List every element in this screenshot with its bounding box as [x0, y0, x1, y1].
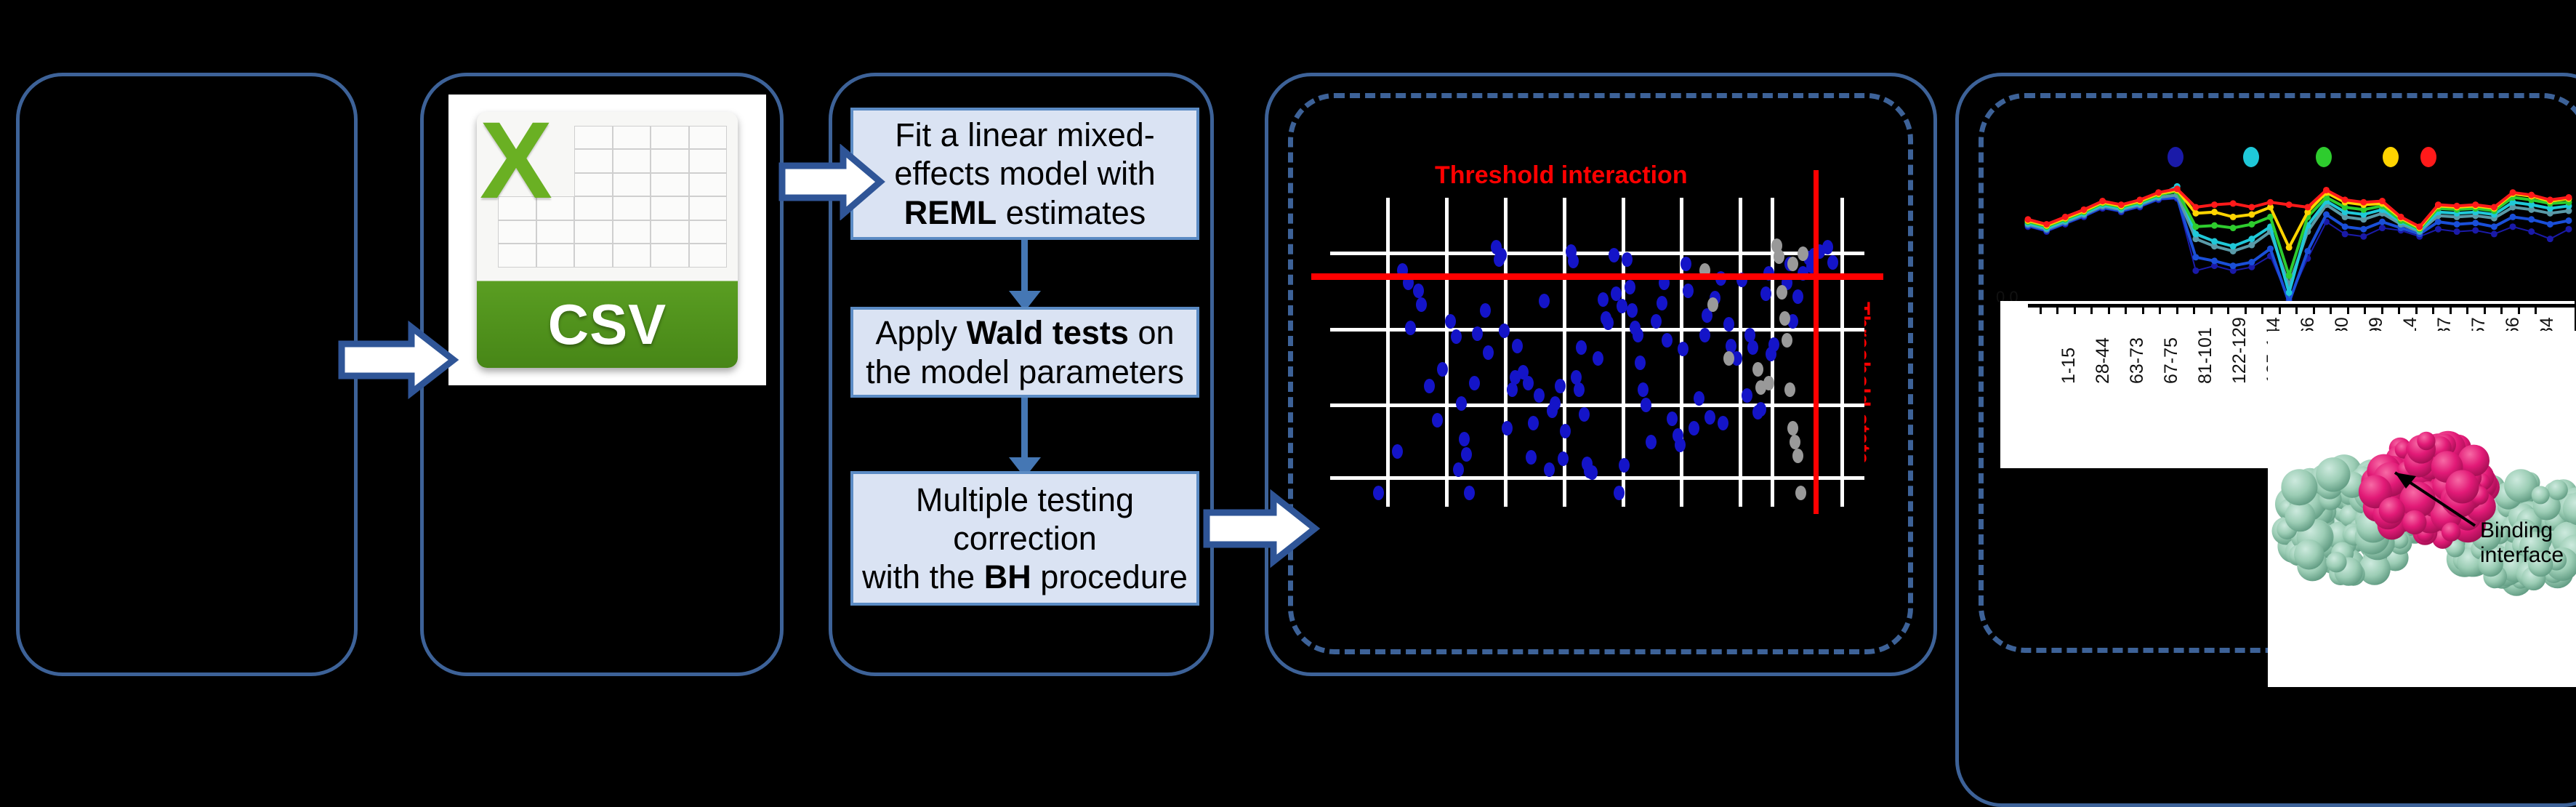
scatter-point — [1678, 342, 1689, 356]
scatter-point — [1617, 299, 1627, 313]
peptide-series-marker — [2099, 198, 2106, 204]
csv-icon-grid-cell — [689, 244, 728, 268]
scatter-gridline-horizontal — [1330, 476, 1864, 480]
peptide-series-marker — [2360, 233, 2367, 240]
csv-icon-grid-cell — [689, 149, 728, 173]
scatter-point — [1598, 292, 1609, 307]
scatter-point — [1614, 486, 1625, 500]
scatter-point — [1625, 280, 1635, 294]
peptide-series-marker — [2323, 187, 2330, 193]
scatter-point — [1774, 249, 1784, 264]
scatter-point — [1544, 462, 1555, 477]
scatter-point — [1456, 396, 1467, 411]
csv-icon-grid-row — [498, 220, 727, 244]
peptide-axis-tick — [2245, 304, 2247, 314]
csv-icon-x-glyph: X — [480, 112, 552, 214]
peptide-series-marker — [2379, 198, 2386, 204]
protein-chain-teal-right — [2532, 486, 2550, 504]
peptide-series-marker — [2192, 268, 2199, 274]
step-mt-pre: with the — [862, 558, 984, 595]
arrow-source-to-csv — [336, 320, 459, 400]
scatter-point — [1512, 339, 1523, 353]
scatter-point — [1373, 486, 1384, 500]
scatter-point — [1689, 421, 1699, 435]
step-mt-post: procedure — [1031, 558, 1188, 595]
peptide-series-marker — [2211, 201, 2218, 208]
peptide-series-marker — [2080, 206, 2087, 213]
peptide-legend-dot — [2243, 147, 2259, 167]
scatter-point — [1472, 326, 1483, 341]
csv-icon-grid-cell — [651, 149, 689, 173]
peptide-series-marker — [2062, 214, 2069, 220]
step-multiple-testing: Multiple testing correction with the BH … — [850, 471, 1199, 606]
peptide-series-marker — [2547, 196, 2553, 203]
peptide-axis-tick — [2193, 304, 2195, 314]
peptide-axis-tick — [2500, 304, 2503, 314]
scatter-point — [1787, 421, 1798, 435]
peptide-tick-label: 67-75 — [2161, 337, 2182, 384]
scatter-point — [1593, 351, 1603, 366]
scatter-point — [1622, 252, 1633, 267]
scatter-point — [1827, 255, 1838, 270]
scatter-point — [1779, 311, 1790, 326]
peptide-series-marker — [2248, 221, 2255, 228]
scatter-point — [1609, 248, 1619, 262]
peptide-series-marker — [2566, 226, 2572, 233]
scatter-point — [1579, 407, 1590, 422]
scatter-point — [1405, 321, 1416, 335]
scatter-point — [1718, 416, 1728, 430]
peptide-series-marker — [2286, 244, 2293, 251]
csv-icon-grid-cell — [536, 244, 575, 268]
peptide-series-marker — [2211, 238, 2218, 245]
peptide-series-marker — [2528, 228, 2535, 235]
peptide-axis-tick — [2432, 304, 2434, 314]
scatter-point — [1464, 486, 1475, 500]
peptide-tick-label: 28-44 — [2093, 337, 2114, 384]
peptide-series-marker — [2360, 199, 2367, 206]
peptide-series-marker — [2491, 204, 2497, 210]
peptide-series-marker — [2248, 212, 2255, 218]
scatter-point — [1507, 382, 1518, 397]
peptide-series-marker — [2174, 185, 2181, 192]
peptide-axis-tick — [2040, 304, 2042, 314]
peptide-series-marker — [2230, 262, 2237, 269]
protein-chain-teal-left — [2316, 457, 2350, 491]
scatter-gridline-horizontal — [1330, 403, 1864, 407]
peptide-tick-label: 81-101 — [2195, 327, 2216, 384]
peptide-series-marker — [2435, 226, 2442, 233]
scatter-point — [1496, 248, 1507, 262]
connector-1 — [1021, 240, 1028, 297]
peptide-axis-tick — [2279, 304, 2281, 314]
scatter-threshold-line-horizontal — [1311, 273, 1883, 280]
scatter-point — [1424, 379, 1435, 393]
peptide-line-chart-svg — [1993, 138, 2575, 305]
csv-icon-grid-cell — [613, 149, 651, 173]
peptide-series-marker — [2342, 196, 2348, 203]
scatter-point — [1768, 337, 1779, 352]
csv-icon-grid-cell — [689, 126, 728, 150]
peptide-series-marker — [2547, 236, 2553, 242]
peptide-series-marker — [2398, 214, 2404, 220]
peptide-series-marker — [2248, 259, 2255, 265]
scatter-chart: Threshold interaction Threshold state — [1308, 145, 1890, 625]
protein-chain-teal-left — [2326, 552, 2346, 572]
step-fit-model-text: Fit a linear mixed- effects model with R… — [890, 116, 1159, 231]
csv-icon-grid-cell — [651, 196, 689, 220]
csv-icon-grid-cell — [689, 173, 728, 197]
csv-icon-grid-cell — [574, 173, 613, 197]
peptide-series-marker — [2192, 223, 2199, 230]
scatter-point — [1627, 303, 1638, 318]
peptide-series-marker — [2379, 219, 2386, 225]
arrow-csv-to-analysis — [776, 144, 885, 220]
peptide-series-marker — [2136, 196, 2143, 203]
peptide-series-marker — [2472, 227, 2479, 233]
peptide-series-marker — [2472, 220, 2479, 226]
binding-interface-l1: Binding — [2480, 518, 2553, 542]
scatter-threshold-interaction-label: Threshold interaction — [1435, 161, 1688, 190]
peptide-axis-tick — [2381, 304, 2383, 314]
peptide-series-marker — [2025, 216, 2032, 222]
csv-icon-grid-row — [498, 244, 727, 268]
peptide-series-marker — [2211, 209, 2218, 215]
protein-surface-render — [2268, 331, 2576, 687]
peptide-series-marker — [2454, 228, 2460, 235]
figure-root: X CSV Fit a linear mixed- effects model … — [0, 0, 2576, 687]
scatter-threshold-line-vertical — [1814, 170, 1819, 514]
protein-structure-figure: Binding interface — [2268, 331, 2576, 687]
peptide-series-marker — [2248, 236, 2255, 242]
step-mt-bold: BH — [984, 558, 1031, 595]
scatter-point — [1755, 402, 1766, 417]
csv-icon-grid-cell — [651, 126, 689, 150]
peptide-series-marker — [2192, 204, 2199, 210]
scatter-point — [1681, 257, 1691, 271]
peptide-axis-tick — [2108, 304, 2110, 314]
scatter-gridline-vertical — [1386, 198, 1390, 507]
scatter-point — [1747, 340, 1758, 355]
peptide-series-marker — [2454, 203, 2460, 209]
scatter-point — [1822, 240, 1833, 254]
step-fit-model-bold: REML — [904, 194, 997, 231]
peptide-series-marker — [2248, 204, 2255, 210]
scatter-point — [1526, 450, 1537, 465]
scatter-point — [1633, 328, 1643, 342]
peptide-series-marker — [2304, 204, 2311, 210]
csv-icon-grid-cell — [613, 244, 651, 268]
scatter-point — [1707, 297, 1718, 312]
protein-chain-pink — [2446, 470, 2479, 504]
peptide-axis-tick — [2450, 304, 2452, 314]
scatter-point — [1558, 451, 1569, 466]
csv-icon-grid-cell — [613, 220, 651, 244]
csv-icon-grid-cell — [613, 196, 651, 220]
peptide-axis-line — [2028, 304, 2575, 308]
scatter-point — [1638, 382, 1649, 397]
scatter-gridline-vertical — [1445, 198, 1449, 507]
peptide-axis-tick — [2484, 304, 2486, 314]
scatter-point — [1792, 289, 1803, 304]
scatter-point — [1469, 376, 1480, 390]
csv-icon-grid-cell — [574, 149, 613, 173]
scatter-point — [1560, 424, 1571, 438]
peptide-series-marker — [2286, 273, 2293, 279]
scatter-point — [1480, 303, 1491, 318]
peptide-axis-tick — [2330, 304, 2332, 314]
peptide-series-marker — [2342, 230, 2348, 237]
scatter-point — [1683, 284, 1694, 298]
scatter-point — [1776, 285, 1787, 300]
csv-icon-body: X CSV — [477, 112, 737, 368]
step-wald-tests: Apply Wald tests on the model parameters — [850, 307, 1199, 398]
scatter-point — [1723, 351, 1734, 366]
step-wald-bold: Wald tests — [967, 314, 1129, 351]
peptide-axis-tick — [2176, 304, 2178, 314]
peptide-series-marker — [2416, 223, 2423, 230]
step-fit-model-l3: estimates — [997, 194, 1146, 231]
peptide-series-marker — [2304, 248, 2311, 254]
protein-chain-pink — [2417, 432, 2435, 450]
peptide-series-marker — [2472, 201, 2479, 208]
scatter-point — [1445, 314, 1456, 329]
peptide-axis-tick — [2210, 304, 2213, 314]
csv-icon-grid-cell — [498, 220, 536, 244]
peptide-axis-tick — [2261, 304, 2263, 314]
scatter-point — [1635, 356, 1646, 370]
peptide-series-marker — [2192, 230, 2199, 237]
peptide-legend-dot — [2383, 147, 2399, 167]
csv-icon-grid-cell — [613, 126, 651, 150]
peptide-series-marker — [2155, 189, 2162, 196]
csv-file-icon: X CSV — [448, 95, 766, 385]
scatter-point — [1795, 486, 1806, 500]
peptide-series-marker — [2547, 221, 2553, 228]
scatter-point — [1550, 396, 1561, 411]
csv-icon-grid-cell — [613, 173, 651, 197]
peptide-axis-tick — [2364, 304, 2366, 314]
scatter-point — [1502, 421, 1513, 435]
binding-interface-label: Binding interface — [2480, 518, 2564, 567]
scatter-point — [1499, 324, 1510, 338]
scatter-point — [1539, 294, 1550, 308]
scatter-point — [1534, 388, 1545, 403]
scatter-point — [1784, 382, 1795, 397]
protein-chain-pink — [2379, 497, 2405, 523]
csv-icon-grid-cell — [689, 220, 728, 244]
peptide-series-marker — [2248, 242, 2255, 249]
connector-2 — [1021, 398, 1028, 463]
peptide-axis-tick — [2159, 304, 2161, 314]
scatter-point — [1704, 410, 1715, 425]
step-fit-model-l2: effects model with — [894, 155, 1155, 192]
scatter-point — [1432, 413, 1443, 427]
peptide-axis-tick — [2090, 304, 2093, 314]
step-wald-pre: Apply — [875, 314, 966, 351]
protein-chain-teal-left — [2285, 501, 2315, 531]
peptide-legend-dot — [2168, 147, 2183, 167]
peptide-series-marker — [2510, 214, 2516, 220]
peptide-axis-tick — [2295, 304, 2298, 314]
protein-chain-teal-left — [2294, 539, 2325, 570]
scatter-point — [1461, 447, 1472, 462]
protein-chain-pink — [2402, 510, 2426, 534]
scatter-point — [1523, 376, 1534, 390]
peptide-series-marker — [2379, 225, 2386, 231]
scatter-point — [1742, 388, 1752, 403]
peptide-series-marker — [2192, 210, 2199, 217]
scatter-point — [1619, 458, 1630, 473]
csv-icon-grid-cell — [651, 244, 689, 268]
scatter-plot-area — [1330, 198, 1864, 507]
peptide-series-marker — [2528, 192, 2535, 198]
peptide-series-marker — [2230, 214, 2237, 220]
peptide-series-marker — [2267, 199, 2274, 206]
csv-icon-grid-cell — [689, 196, 728, 220]
csv-icon-sheet: X — [477, 112, 737, 281]
peptide-axis-tick — [2056, 304, 2058, 314]
scatter-point — [1723, 317, 1734, 332]
scatter-point — [1574, 382, 1585, 397]
step-fit-model: Fit a linear mixed- effects model with R… — [850, 108, 1199, 240]
peptide-series-marker — [2118, 201, 2125, 208]
peptide-axis-tick — [2535, 304, 2537, 314]
peptide-series-marker — [2491, 230, 2497, 237]
peptide-series-marker — [2454, 221, 2460, 228]
peptide-axis-tick — [2415, 304, 2418, 314]
peptide-series-marker — [2323, 212, 2330, 218]
peptide-tick-label: 1-15 — [2058, 348, 2080, 384]
step-mt-l2: correction — [953, 520, 1097, 557]
csv-icon-grid-cell — [574, 196, 613, 220]
peptide-line-chart-plot — [1993, 138, 2575, 305]
scatter-point — [1790, 435, 1800, 449]
peptide-series-marker — [2230, 243, 2237, 249]
step-wald-post: on — [1129, 314, 1175, 351]
scatter-gridline-vertical — [1504, 198, 1508, 507]
scatter-point — [1763, 376, 1774, 390]
peptide-axis-tick — [2398, 304, 2400, 314]
peptide-axis-tick — [2347, 304, 2349, 314]
peptide-series-marker — [2566, 194, 2572, 201]
peptide-series-marker — [2435, 201, 2442, 208]
scatter-point — [1792, 449, 1803, 463]
peptide-series-marker — [2510, 223, 2516, 230]
scatter-point — [1760, 286, 1771, 301]
scatter-point — [1392, 444, 1403, 459]
panel-data-source — [16, 73, 358, 676]
scatter-point — [1782, 333, 1792, 348]
peptide-axis-tick — [2142, 304, 2144, 314]
peptide-axis-tick — [2313, 304, 2315, 314]
scatter-point — [1576, 340, 1587, 355]
step-wald-l2: the model parameters — [866, 353, 1184, 390]
peptide-series-marker — [2286, 201, 2293, 208]
scatter-point — [1675, 438, 1686, 452]
peptide-series-marker — [2360, 226, 2367, 233]
scatter-point — [1646, 435, 1657, 449]
scatter-point — [1568, 254, 1579, 268]
peptide-axis-tick — [2518, 304, 2520, 314]
scatter-point — [1459, 432, 1470, 446]
peptide-series-marker — [2211, 257, 2218, 264]
peptide-tick-label: 122-129 — [2229, 317, 2250, 384]
scatter-point — [1413, 284, 1424, 298]
protein-chain-pink — [2442, 523, 2460, 542]
scatter-point — [1416, 297, 1427, 312]
peptide-legend-dot — [2420, 147, 2436, 167]
csv-icon-grid-cell — [574, 244, 613, 268]
csv-icon-grid-cell — [651, 173, 689, 197]
scatter-point — [1641, 398, 1651, 412]
scatter-point — [1787, 257, 1798, 271]
peptide-series-marker — [2230, 200, 2237, 206]
scatter-point — [1662, 333, 1673, 348]
scatter-point — [1453, 462, 1464, 477]
csv-icon-grid-cell — [498, 244, 536, 268]
csv-icon-grid-cell — [574, 220, 613, 244]
scatter-point — [1451, 329, 1462, 344]
scatter-point — [1483, 345, 1494, 360]
scatter-point — [1657, 296, 1667, 310]
protein-chain-teal-right — [2548, 480, 2568, 500]
peptide-series-marker — [2043, 221, 2050, 228]
peptide-axis-tick — [2125, 304, 2127, 314]
step-wald-tests-text: Apply Wald tests on the model parameters — [861, 313, 1188, 390]
scatter-point — [1699, 328, 1710, 342]
peptide-series-marker — [2566, 217, 2572, 224]
csv-icon-label: CSV — [477, 284, 737, 366]
csv-icon-grid-cell — [536, 220, 575, 244]
peptide-series-marker — [2528, 216, 2535, 222]
scatter-point — [1651, 314, 1662, 329]
peptide-series-marker — [2230, 225, 2237, 231]
csv-icon-grid-cell — [574, 126, 613, 150]
peptide-series-marker — [2342, 223, 2348, 230]
peptide-legend-dot — [2316, 147, 2332, 167]
scatter-point — [1667, 411, 1678, 426]
peptide-series-marker — [2491, 223, 2497, 230]
scatter-point — [1752, 362, 1763, 377]
peptide-series-marker — [2267, 246, 2274, 252]
step-mt-l1: Multiple testing — [916, 481, 1134, 518]
peptide-series-marker — [2286, 289, 2293, 296]
step-fit-model-l1: Fit a linear mixed- — [895, 116, 1155, 153]
csv-icon-grid-cell — [651, 220, 689, 244]
peptide-axis-tick — [2227, 304, 2229, 314]
peptide-tick-label: 63-73 — [2127, 337, 2148, 384]
peptide-axis-tick — [2074, 304, 2076, 314]
peptide-series-marker — [2192, 254, 2199, 260]
binding-interface-l2: interface — [2480, 543, 2564, 567]
arrow-analysis-to-results — [1201, 489, 1321, 569]
peptide-series-marker — [2510, 189, 2516, 196]
peptide-series-marker — [2211, 222, 2218, 229]
step-multiple-testing-text: Multiple testing correction with the BH … — [858, 481, 1192, 596]
protein-chain-teal-left — [2281, 469, 2317, 505]
scatter-gridline-vertical — [1840, 198, 1844, 507]
peptide-axis-tick — [2466, 304, 2468, 314]
scatter-point — [1528, 416, 1539, 430]
